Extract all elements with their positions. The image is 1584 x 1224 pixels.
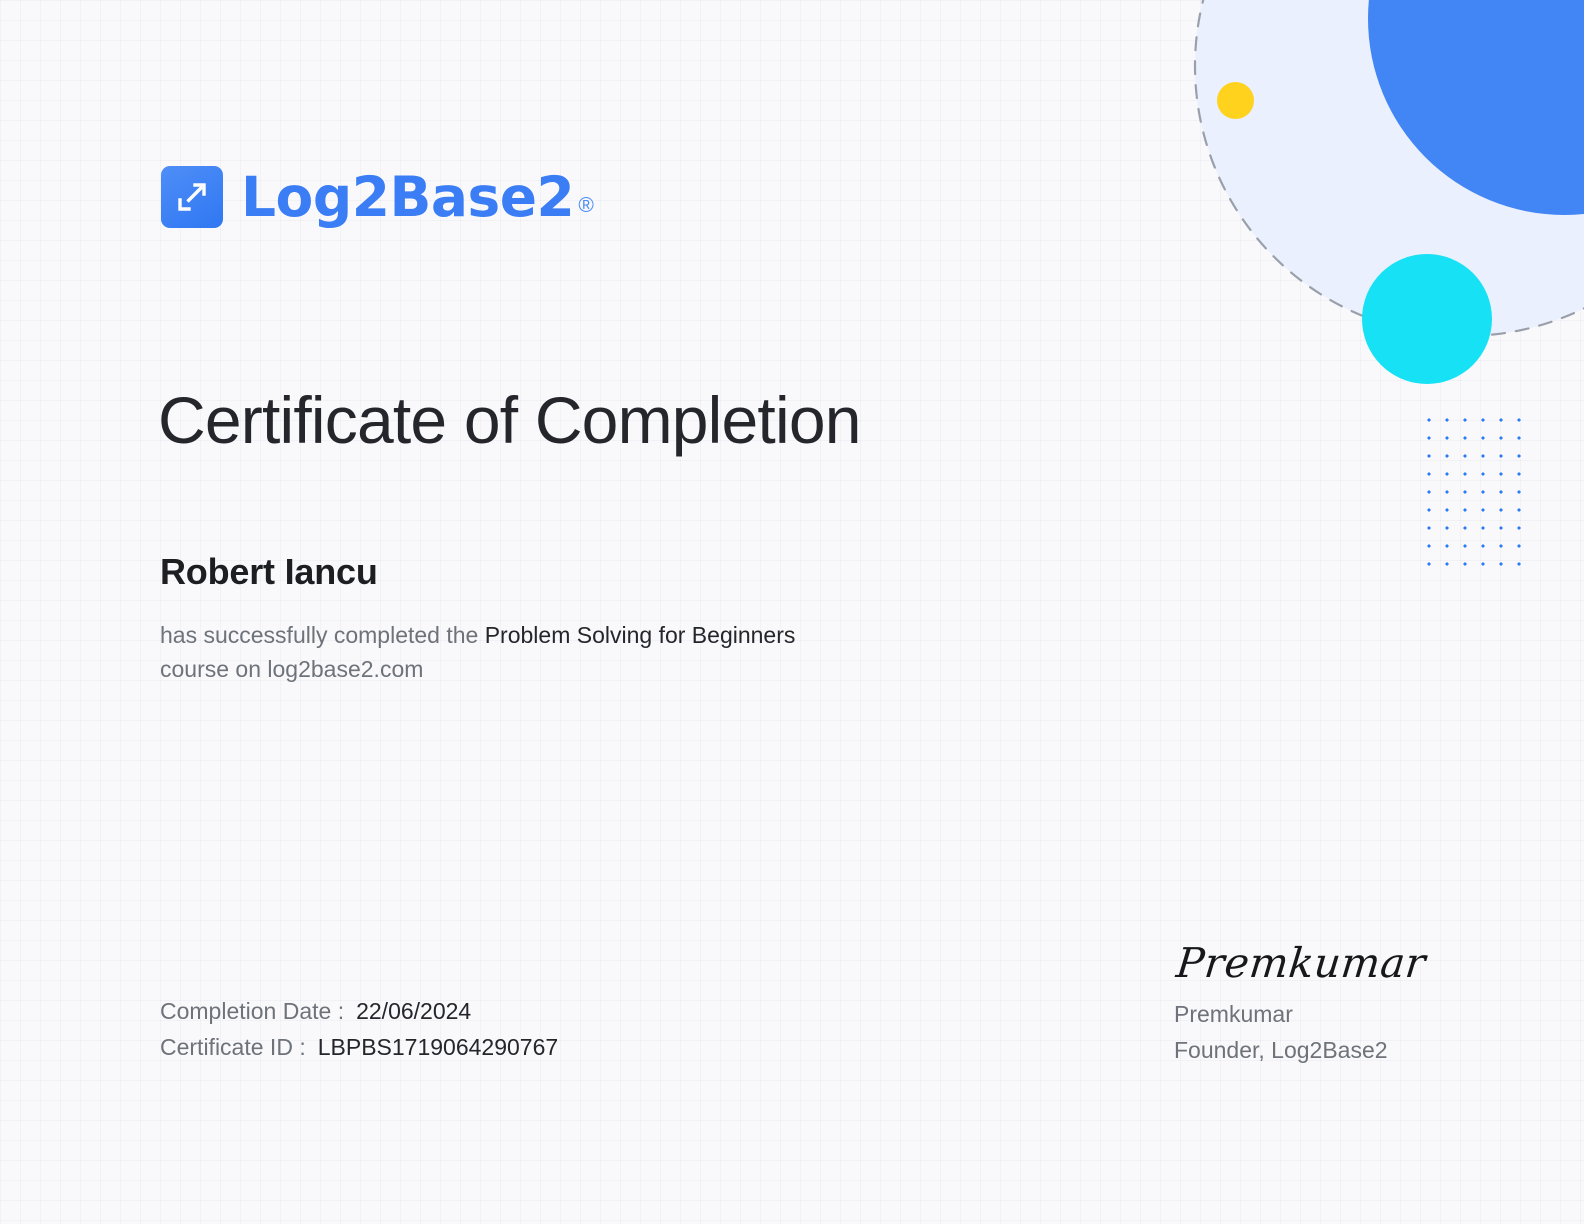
signature-block: Premkumar Premkumar Founder, Log2Base2 xyxy=(1174,938,1514,1068)
certificate-meta: Completion Date :22/06/2024 Certificate … xyxy=(160,993,558,1065)
pale-blue-circle xyxy=(1195,0,1584,336)
completion-statement-suffix: course on log2base2.com xyxy=(160,656,423,682)
completion-statement-prefix: has successfully completed the xyxy=(160,622,485,648)
decorative-shapes xyxy=(1024,0,1584,640)
dot-grid-pattern xyxy=(1417,408,1534,579)
dashed-arc-icon xyxy=(1024,0,1584,640)
signature-script: Premkumar xyxy=(1174,938,1519,988)
brand-wordmark: Log2Base2® xyxy=(241,170,593,225)
signatory-role: Founder, Log2Base2 xyxy=(1174,1032,1514,1068)
page-title: Certificate of Completion xyxy=(158,380,861,460)
brand-logo[interactable]: Log2Base2® xyxy=(161,166,593,228)
recipient-name: Robert Iancu xyxy=(160,548,378,596)
certificate-id-row: Certificate ID :LBPBS1719064290767 xyxy=(160,1029,558,1065)
cyan-circle xyxy=(1362,254,1492,384)
completion-date-value: 22/06/2024 xyxy=(356,998,471,1024)
course-name: Problem Solving for Beginners xyxy=(485,622,796,648)
yellow-dot xyxy=(1217,82,1254,119)
signatory-name: Premkumar xyxy=(1174,996,1514,1032)
registered-trademark-icon: ® xyxy=(578,194,593,217)
completion-date-label: Completion Date : xyxy=(160,998,344,1024)
brand-wordmark-text: Log2Base2 xyxy=(241,165,574,229)
completion-date-row: Completion Date :22/06/2024 xyxy=(160,993,558,1029)
large-blue-circle xyxy=(1368,0,1584,215)
completion-statement: has successfully completed the Problem S… xyxy=(160,618,795,686)
certificate-page: Log2Base2® Certificate of Completion Rob… xyxy=(0,0,1584,1224)
expand-arrow-icon xyxy=(161,166,223,228)
certificate-id-label: Certificate ID : xyxy=(160,1034,306,1060)
certificate-id-value: LBPBS1719064290767 xyxy=(318,1034,558,1060)
